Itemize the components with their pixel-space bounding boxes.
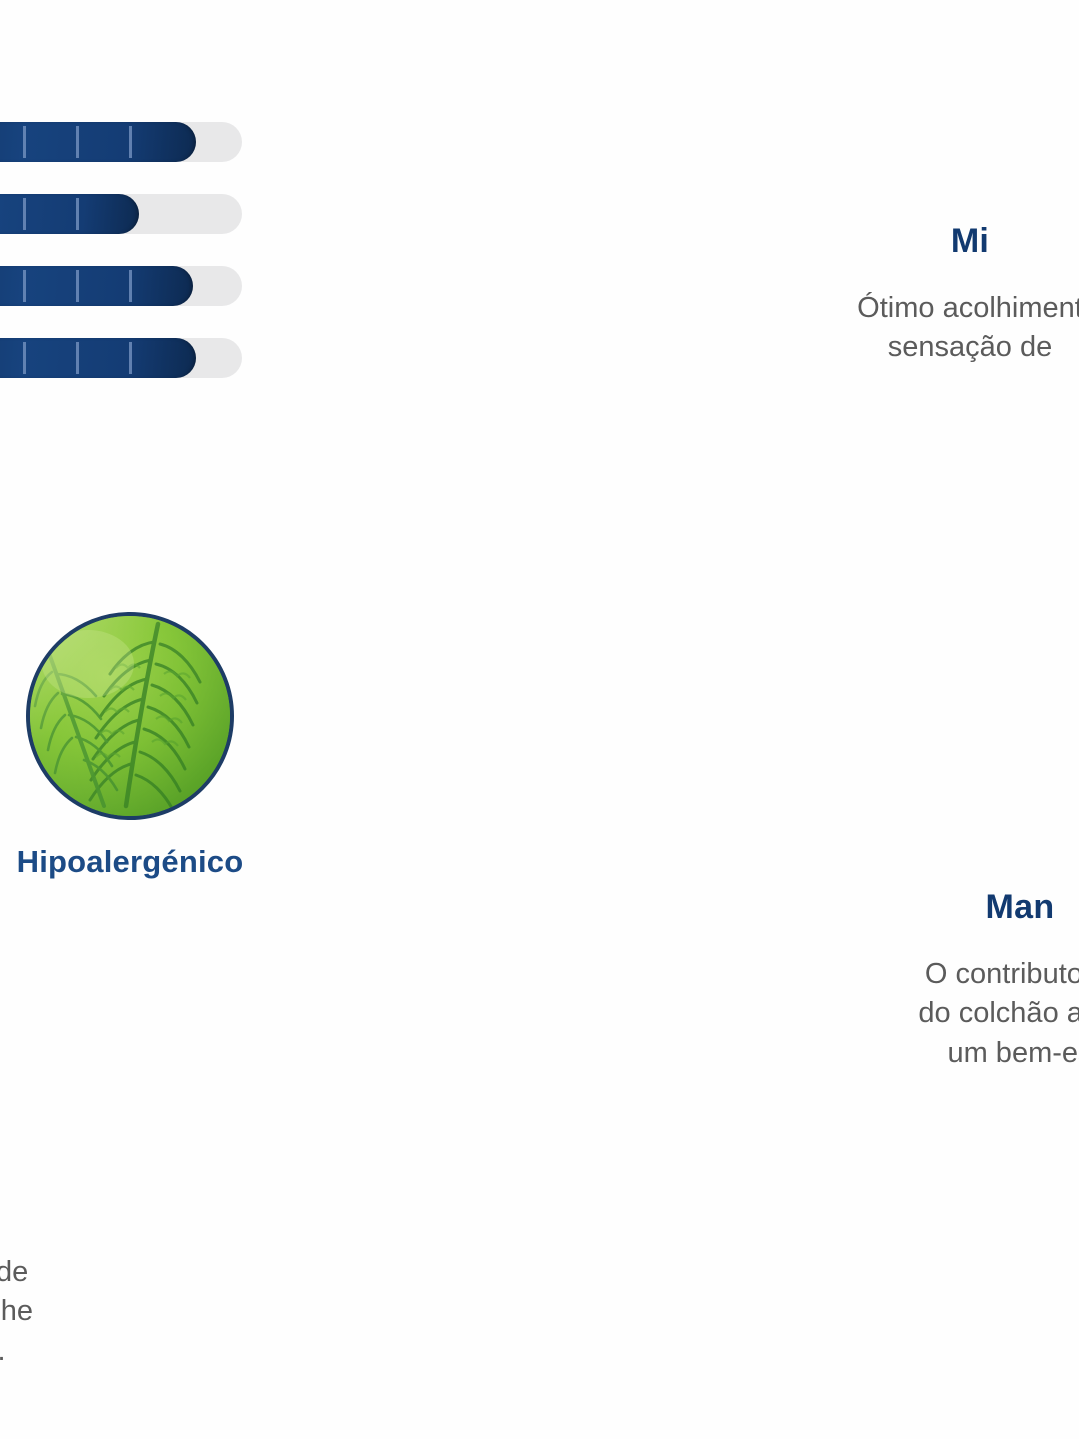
feature-block-manutencao: Man O contributo m do colchão ao c um be… xyxy=(640,888,1079,1073)
leaf-icon xyxy=(26,612,234,820)
firmness-rating-bars: + xyxy=(0,122,242,410)
hypoallergenic-badge: Hipoalergénico xyxy=(0,612,355,880)
feature-block-conforto: to aptabilidade cionando-lhe edentes. xyxy=(0,1186,230,1371)
rating-bar-row xyxy=(0,122,242,162)
rating-bar-tick xyxy=(23,270,26,302)
feature-description: O contributo m do colchão ao c um bem-es xyxy=(640,955,1079,1073)
feature-description-line: sensação de xyxy=(590,328,1079,367)
rating-bar-row xyxy=(0,194,242,234)
rating-bar-fill xyxy=(0,194,139,234)
feature-description-line: um bem-es xyxy=(640,1034,1079,1073)
feature-block-microclima: Mi Ótimo acolhiment sensação de xyxy=(590,222,1079,368)
rating-bar-tick xyxy=(23,126,26,158)
rating-bar-row xyxy=(0,266,242,306)
feature-description: Ótimo acolhiment sensação de xyxy=(590,289,1079,368)
page-canvas: + xyxy=(0,0,1079,1439)
feature-description-line: O contributo m xyxy=(640,955,1079,994)
feature-description: aptabilidade cionando-lhe edentes. xyxy=(0,1253,230,1371)
feature-title: Mi xyxy=(590,222,1079,261)
rating-bar-tick xyxy=(23,198,26,230)
feature-description-line: do colchão ao c xyxy=(640,994,1079,1033)
rating-bar-tick xyxy=(76,342,79,374)
feature-title: Man xyxy=(640,888,1079,927)
feature-description-line: cionando-lhe xyxy=(0,1292,230,1331)
badge-label: Hipoalergénico xyxy=(0,844,355,880)
rating-bar-tick xyxy=(76,270,79,302)
rating-bar-tick xyxy=(76,198,79,230)
rating-bar-tick xyxy=(129,126,132,158)
feature-description-line: Ótimo acolhiment xyxy=(590,289,1079,328)
rating-bar-fill xyxy=(0,338,196,378)
rating-bar-fill xyxy=(0,122,196,162)
feature-description-line: edentes. xyxy=(0,1332,230,1371)
rating-bar-fill xyxy=(0,266,193,306)
rating-bar-tick xyxy=(129,342,132,374)
feature-description-line: aptabilidade xyxy=(0,1253,230,1292)
rating-bar-row xyxy=(0,338,242,378)
rating-bar-tick xyxy=(76,126,79,158)
rating-bar-tick xyxy=(23,342,26,374)
feature-title: to xyxy=(0,1186,230,1225)
rating-bar-tick xyxy=(129,270,132,302)
